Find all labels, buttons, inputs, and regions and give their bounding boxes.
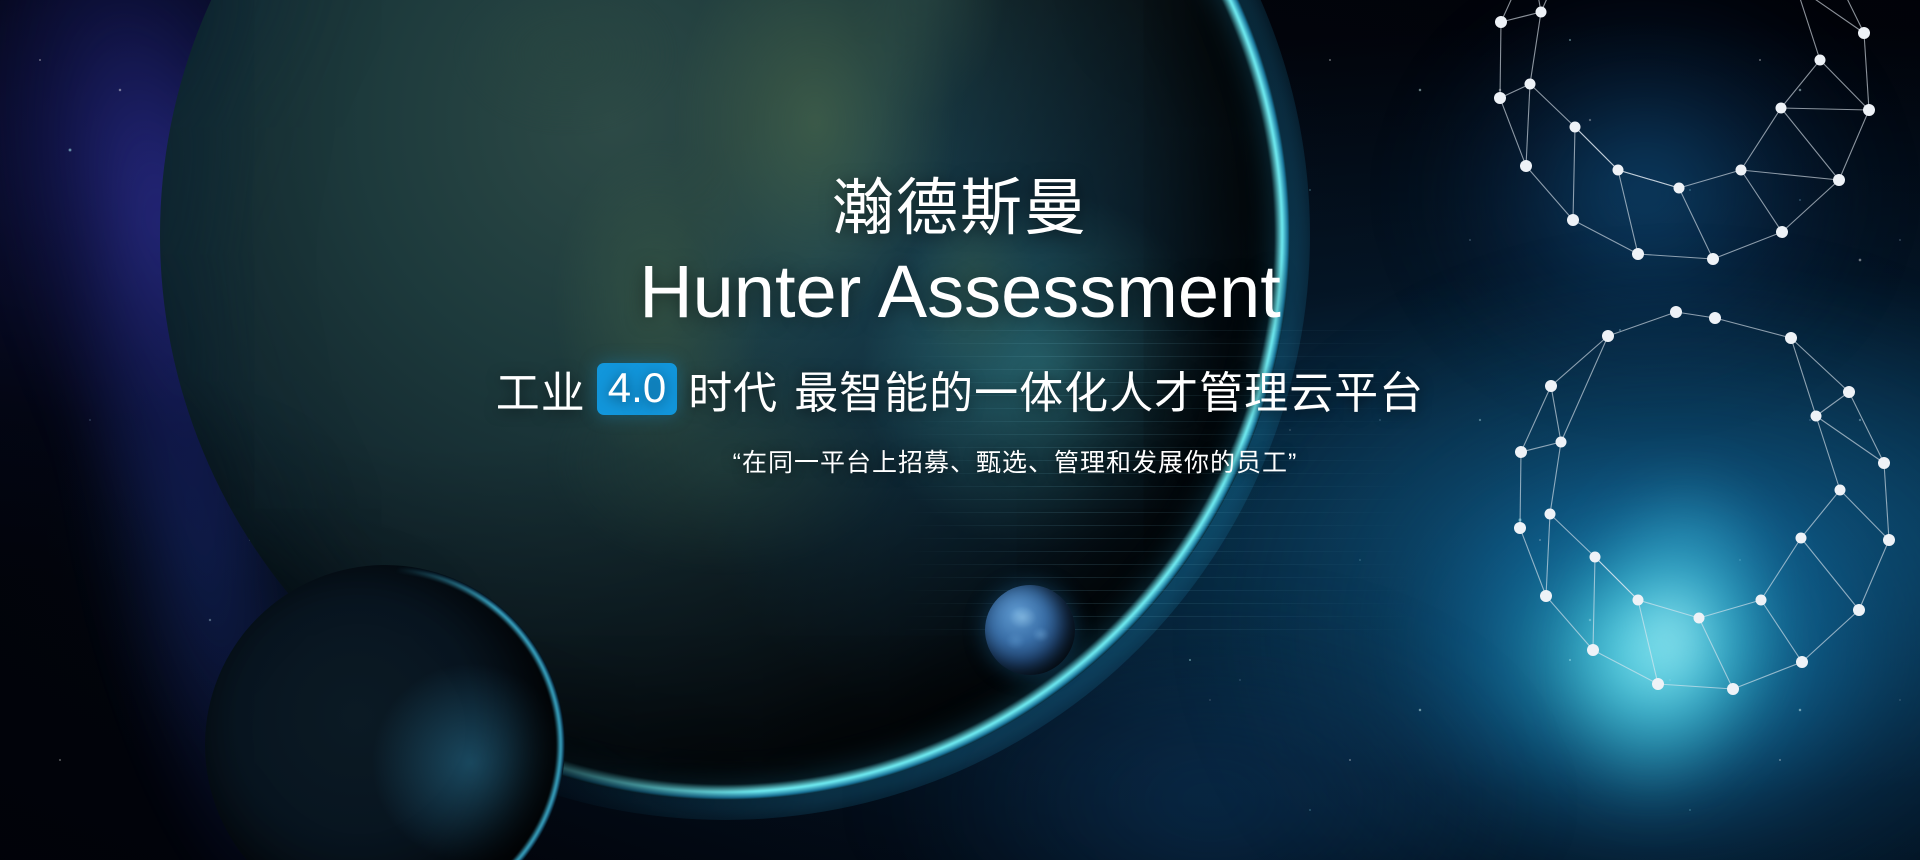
tagline-prefix: 工业 [496,357,586,421]
moon-surface-texture [985,585,1075,675]
hero-banner: 瀚德斯曼 Hunter Assessment 工业 4.0 时代 最智能的一体化… [0,0,1920,860]
tagline: 工业 4.0 时代 最智能的一体化人才管理云平台 [0,357,1920,421]
industry-version-badge: 4.0 [597,363,677,415]
small-moon [985,585,1075,675]
tagline-suffix: 最智能的一体化人才管理云平台 [794,357,1424,421]
hero-subtitle: “在同一平台上招募、甄选、管理和发展你的员工” [0,443,1920,479]
tagline-middle: 时代 [688,357,778,421]
hero-content: 瀚德斯曼 Hunter Assessment 工业 4.0 时代 最智能的一体化… [0,176,1920,479]
brand-title-cn: 瀚德斯曼 [0,176,1920,243]
brand-title-en: Hunter Assessment [0,253,1920,331]
